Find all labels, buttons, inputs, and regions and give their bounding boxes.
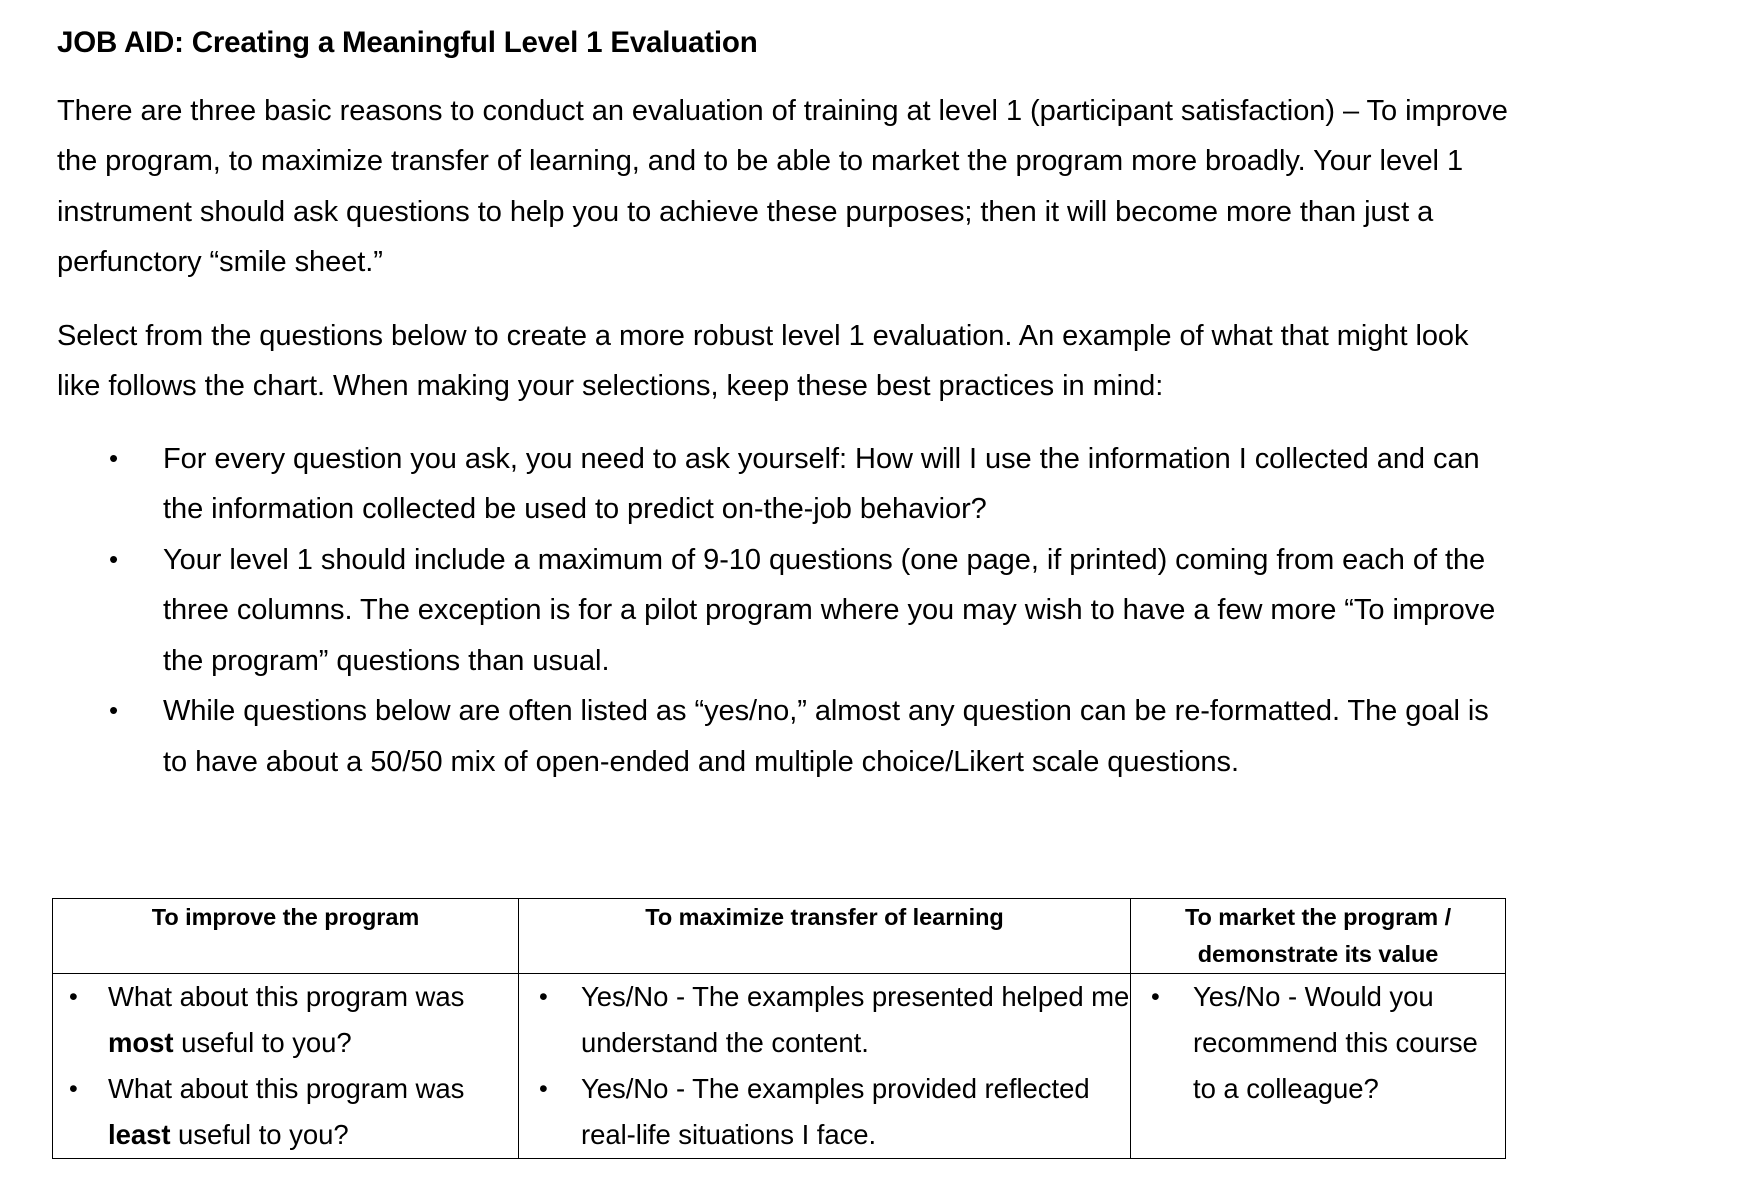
page-title: JOB AID: Creating a Meaningful Level 1 E… [57, 24, 1517, 62]
question-text-prefix: What about this program was [108, 1073, 464, 1104]
list-item: What about this program was most useful … [53, 974, 518, 1066]
question-text-prefix: What about this program was [108, 981, 464, 1012]
question-text: Yes/No - The examples presented helped m… [581, 981, 1129, 1058]
cell-transfer-of-learning: Yes/No - The examples presented helped m… [519, 974, 1131, 1159]
question-text-emphasis: most [108, 1027, 174, 1058]
document-body: JOB AID: Creating a Meaningful Level 1 E… [57, 24, 1517, 787]
question-list-transfer-of-learning: Yes/No - The examples presented helped m… [519, 974, 1130, 1158]
list-item: What about this program was least useful… [53, 1066, 518, 1158]
list-item: For every question you ask, you need to … [57, 434, 1517, 535]
question-list-market-program: Yes/No - Would you recommend this course… [1131, 974, 1505, 1112]
list-item: Yes/No - Would you recommend this course… [1131, 974, 1505, 1112]
document-page: JOB AID: Creating a Meaningful Level 1 E… [0, 0, 1758, 1182]
header-line: To maximize transfer of learning [519, 899, 1130, 936]
list-item: While questions below are often listed a… [57, 686, 1517, 787]
table-header-row: To improve the program To maximize trans… [53, 899, 1506, 974]
evaluation-questions-table: To improve the program To maximize trans… [52, 898, 1506, 1159]
best-practices-list: For every question you ask, you need to … [57, 434, 1517, 788]
header-line: To improve the program [53, 899, 518, 936]
column-header-transfer-of-learning: To maximize transfer of learning [519, 899, 1131, 974]
question-text-suffix: useful to you? [170, 1119, 348, 1150]
column-header-improve-program: To improve the program [53, 899, 519, 974]
list-item: Yes/No - The examples provided reflected… [519, 1066, 1130, 1158]
list-item: Your level 1 should include a maximum of… [57, 535, 1517, 687]
header-line: demonstrate its value [1131, 936, 1505, 973]
intro-paragraph-2: Select from the questions below to creat… [57, 311, 1517, 412]
question-text-suffix: useful to you? [174, 1027, 352, 1058]
cell-improve-program: What about this program was most useful … [53, 974, 519, 1159]
list-item: Yes/No - The examples presented helped m… [519, 974, 1130, 1066]
intro-paragraph-1: There are three basic reasons to conduct… [57, 86, 1517, 288]
question-text: Yes/No - Would you recommend this course… [1193, 981, 1478, 1104]
cell-market-program: Yes/No - Would you recommend this course… [1131, 974, 1506, 1159]
header-line: To market the program / [1131, 899, 1505, 936]
question-text-emphasis: least [108, 1119, 170, 1150]
table-row: What about this program was most useful … [53, 974, 1506, 1159]
question-text: Yes/No - The examples provided reflected… [581, 1073, 1090, 1150]
question-list-improve-program: What about this program was most useful … [53, 974, 518, 1158]
column-header-market-program: To market the program / demonstrate its … [1131, 899, 1506, 974]
